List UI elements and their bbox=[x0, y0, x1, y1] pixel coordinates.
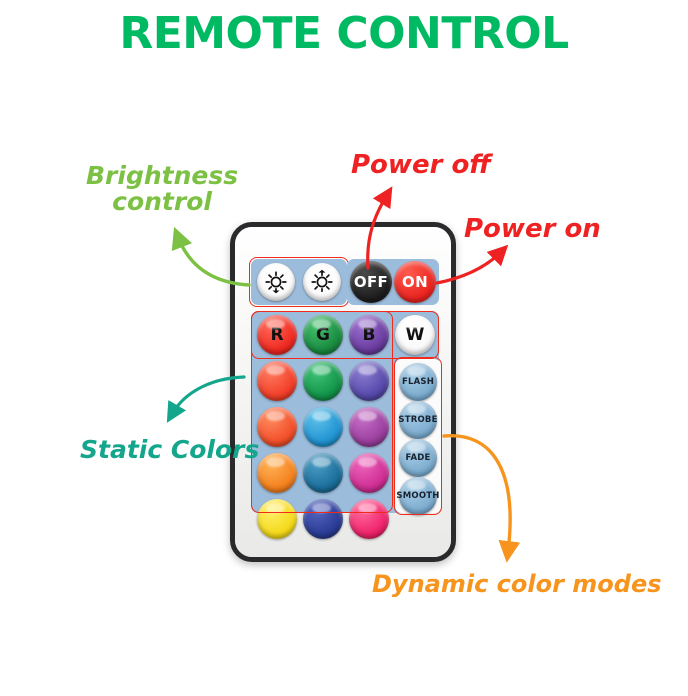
color-button-r5c2[interactable] bbox=[303, 499, 343, 539]
annotation-power-on: Power on bbox=[464, 216, 601, 243]
color-button-r3c2[interactable] bbox=[303, 407, 343, 447]
color-button-label-r: R bbox=[270, 327, 283, 344]
annotation-brightness-control: Brightness control bbox=[86, 163, 238, 215]
remote-faceplate: OFF ON R G B W bbox=[235, 227, 451, 557]
brightness-up-button[interactable] bbox=[303, 263, 341, 301]
button-gloss bbox=[407, 442, 425, 452]
color-button-blue[interactable]: B bbox=[349, 315, 389, 355]
sun-bright-icon bbox=[309, 269, 335, 295]
mode-button-strobe[interactable]: STROBE bbox=[399, 401, 437, 439]
mode-button-label-strobe: STROBE bbox=[398, 416, 437, 425]
sun-dim-icon bbox=[263, 269, 289, 295]
button-gloss bbox=[312, 319, 331, 329]
color-button-r4c3[interactable] bbox=[349, 453, 389, 493]
color-button-r2c2[interactable] bbox=[303, 361, 343, 401]
button-gloss bbox=[407, 404, 425, 414]
button-gloss bbox=[266, 319, 285, 329]
color-button-r3c3[interactable] bbox=[349, 407, 389, 447]
color-button-label-w: W bbox=[406, 327, 425, 344]
button-gloss bbox=[407, 480, 425, 490]
color-button-r5c3[interactable] bbox=[349, 499, 389, 539]
color-button-red[interactable]: R bbox=[257, 315, 297, 355]
mode-button-label-flash: FLASH bbox=[402, 378, 434, 387]
remote-control-device: OFF ON R G B W bbox=[230, 222, 456, 562]
power-off-button[interactable]: OFF bbox=[350, 261, 392, 303]
color-button-r4c1[interactable] bbox=[257, 453, 297, 493]
button-gloss bbox=[404, 319, 423, 329]
button-gloss bbox=[358, 503, 377, 513]
mode-button-flash[interactable]: FLASH bbox=[399, 363, 437, 401]
mode-button-label-fade: FADE bbox=[405, 454, 430, 463]
brightness-panel bbox=[251, 259, 347, 305]
mode-button-label-smooth: SMOOTH bbox=[396, 492, 439, 501]
button-gloss bbox=[266, 365, 285, 375]
button-gloss bbox=[358, 457, 377, 467]
button-gloss bbox=[407, 366, 425, 376]
color-button-green[interactable]: G bbox=[303, 315, 343, 355]
button-gloss bbox=[358, 365, 377, 375]
button-gloss bbox=[312, 411, 331, 421]
button-gloss bbox=[312, 365, 331, 375]
color-button-white[interactable]: W bbox=[395, 315, 435, 355]
color-button-r2c1[interactable] bbox=[257, 361, 297, 401]
color-button-label-g: G bbox=[316, 327, 330, 344]
color-button-label-b: B bbox=[363, 327, 376, 344]
button-gloss bbox=[358, 411, 377, 421]
power-on-label: ON bbox=[402, 275, 428, 290]
power-off-label: OFF bbox=[354, 275, 388, 290]
annotation-power-off: Power off bbox=[351, 152, 491, 179]
button-gloss bbox=[266, 503, 285, 513]
power-on-button[interactable]: ON bbox=[394, 261, 436, 303]
button-gloss bbox=[358, 319, 377, 329]
brightness-down-button[interactable] bbox=[257, 263, 295, 301]
page-title: REMOTE CONTROL bbox=[0, 8, 688, 59]
annotation-dynamic-color-modes: Dynamic color modes bbox=[372, 572, 662, 597]
mode-button-fade[interactable]: FADE bbox=[399, 439, 437, 477]
color-button-r3c1[interactable] bbox=[257, 407, 297, 447]
color-button-r5c1[interactable] bbox=[257, 499, 297, 539]
annotation-static-colors: Static Colors bbox=[80, 437, 259, 463]
mode-button-smooth[interactable]: SMOOTH bbox=[399, 477, 437, 515]
color-button-r4c2[interactable] bbox=[303, 453, 343, 493]
button-gloss bbox=[266, 457, 285, 467]
button-gloss bbox=[266, 411, 285, 421]
button-gloss bbox=[312, 503, 331, 513]
button-gloss bbox=[312, 457, 331, 467]
color-button-r2c3[interactable] bbox=[349, 361, 389, 401]
power-panel: OFF ON bbox=[347, 259, 439, 305]
